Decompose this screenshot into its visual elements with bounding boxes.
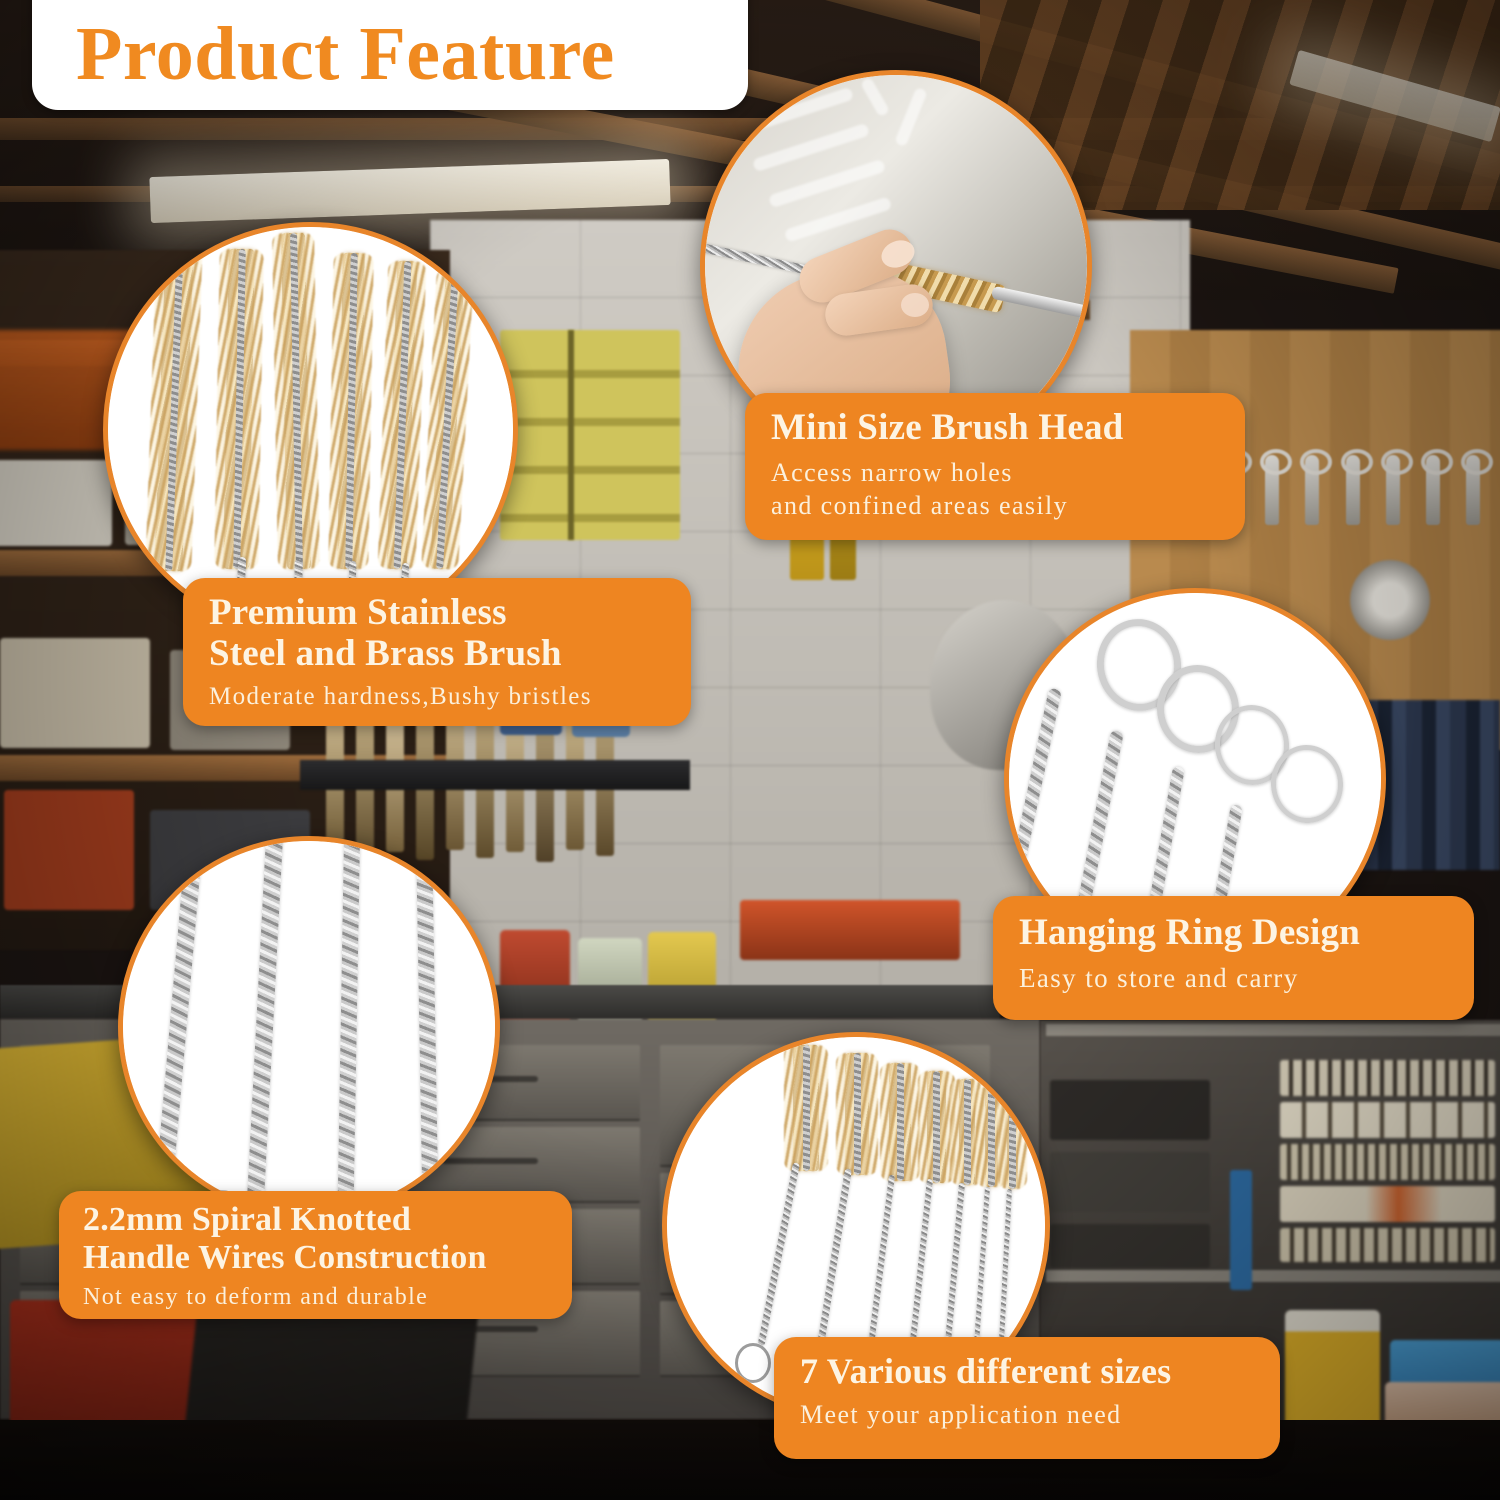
- badge-subtitle-line2: and confined areas easily: [771, 490, 1219, 522]
- badge-title-line1: Premium Stainless: [209, 592, 665, 633]
- infographic-root: Product Feature: [0, 0, 1500, 1500]
- badge-title-line2: Steel and Brass Brush: [209, 633, 665, 674]
- twisted-wire-handle: [246, 841, 284, 1211]
- page-title: Product Feature: [32, 16, 615, 110]
- brush-handle: [867, 1175, 895, 1352]
- hanging-ring: [735, 1343, 771, 1383]
- brush-handle: [999, 1189, 1012, 1347]
- brush-handle: [944, 1183, 965, 1351]
- badge-title: Hanging Ring Design: [1019, 912, 1448, 953]
- brush-handle: [909, 1179, 933, 1353]
- badge-title-line1: 2.2mm Spiral Knotted: [83, 1201, 548, 1239]
- feature-badge-various-sizes: 7 Various different sizes Meet your appl…: [774, 1337, 1280, 1459]
- badge-subtitle: Easy to store and carry: [1019, 962, 1448, 995]
- badge-title-line2: Handle Wires Construction: [83, 1239, 548, 1277]
- brush-handle: [974, 1187, 990, 1349]
- feature-badge-spiral-handle: 2.2mm Spiral Knotted Handle Wires Constr…: [59, 1191, 572, 1319]
- badge-subtitle: Not easy to deform and durable: [83, 1283, 548, 1313]
- brush-handle: [817, 1168, 852, 1349]
- feature-badge-mini-brush-head: Mini Size Brush Head Access narrow holes…: [745, 393, 1245, 540]
- feature-image-spiral-handle: [118, 836, 500, 1218]
- badge-subtitle: Moderate hardness,Bushy bristles: [209, 681, 665, 712]
- feature-image-premium-brush: [103, 222, 518, 637]
- fingernail: [901, 293, 929, 317]
- twisted-wire-handle: [337, 841, 360, 1213]
- twisted-wire-handle: [415, 841, 438, 1213]
- brush-handle: [758, 1162, 800, 1346]
- badge-title: Mini Size Brush Head: [771, 407, 1219, 448]
- title-banner: Product Feature: [32, 0, 748, 110]
- badge-subtitle: Meet your application need: [800, 1399, 1254, 1431]
- feature-badge-premium-brush: Premium Stainless Steel and Brass Brush …: [183, 578, 691, 726]
- feature-badge-hanging-ring: Hanging Ring Design Easy to store and ca…: [993, 896, 1474, 1020]
- badge-title: 7 Various different sizes: [800, 1351, 1254, 1391]
- badge-subtitle-line1: Access narrow holes: [771, 457, 1219, 489]
